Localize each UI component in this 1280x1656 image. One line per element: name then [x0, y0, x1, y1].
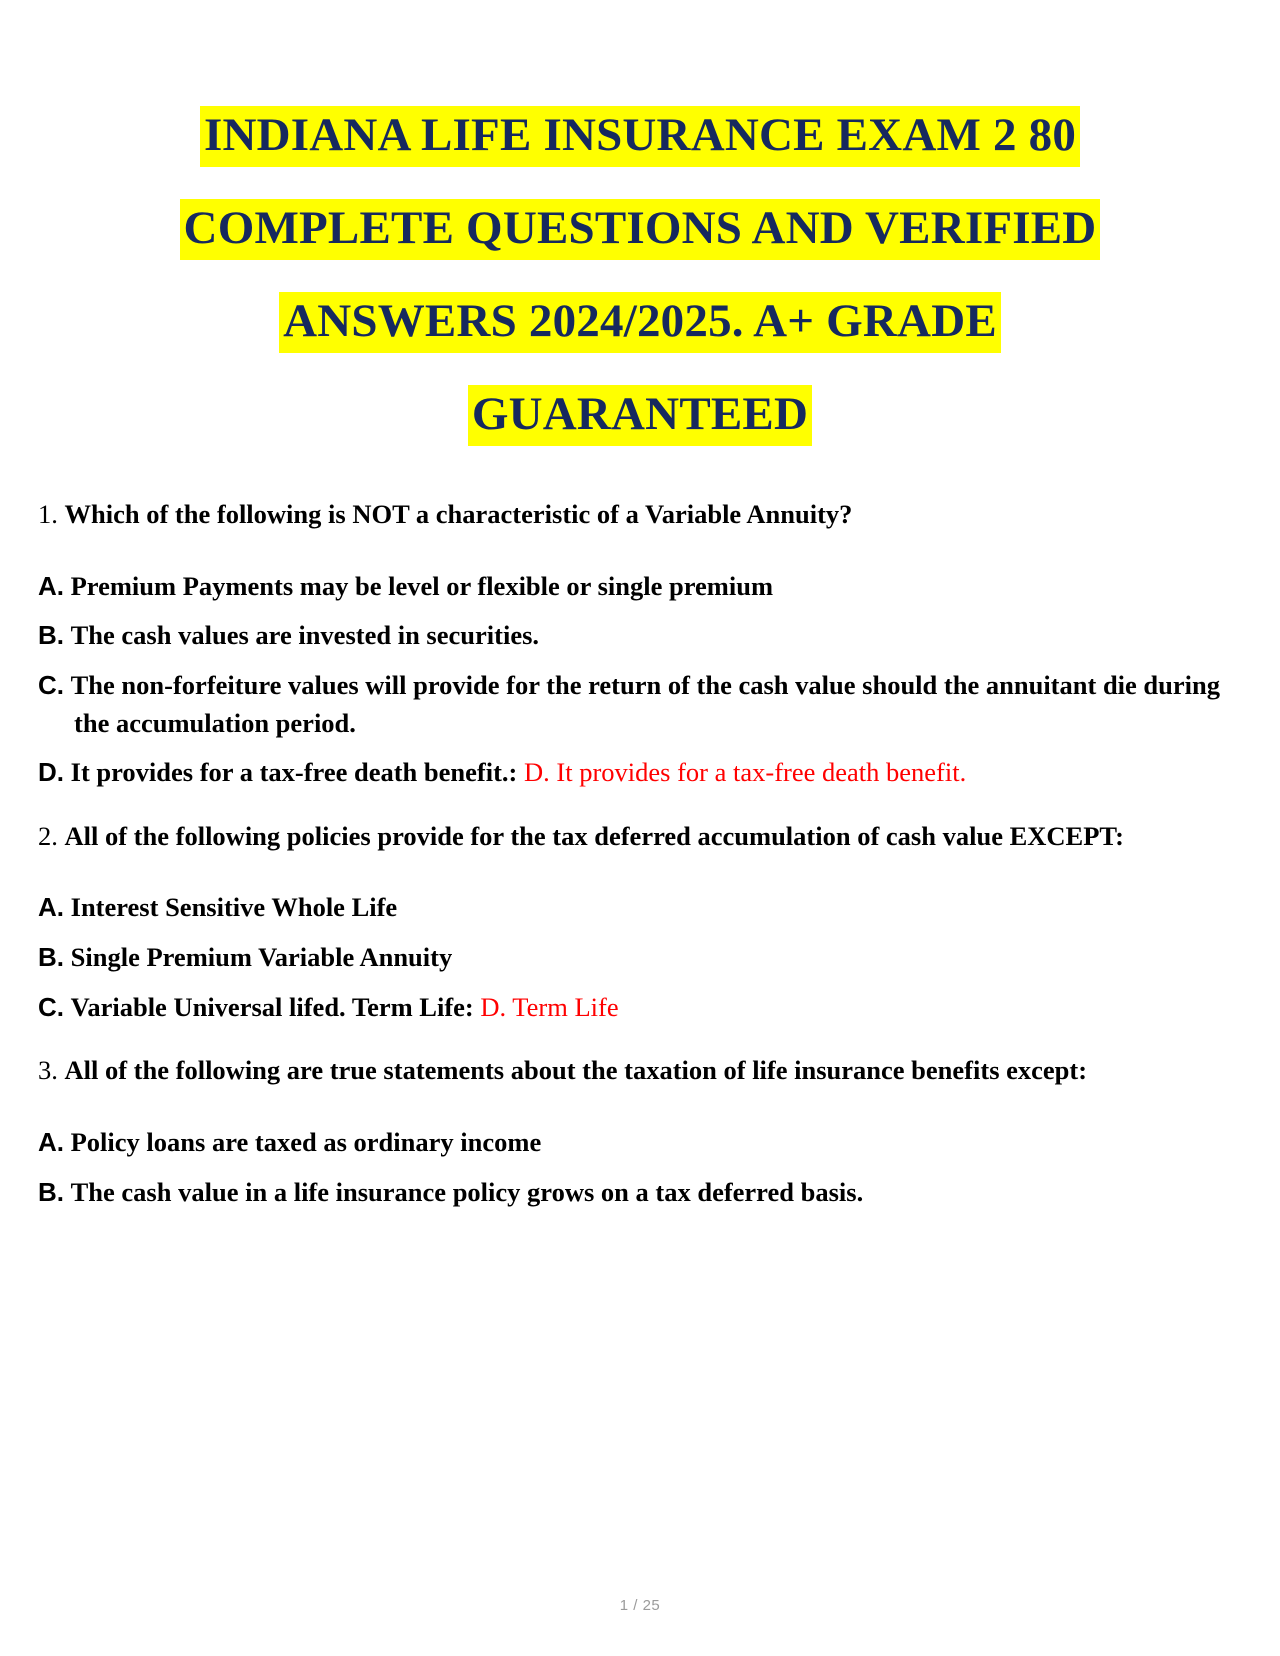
option-letter: B. — [38, 942, 64, 972]
option-group: A. Premium Payments may be level or flex… — [38, 568, 1246, 792]
question-text: All of the following policies provide fo… — [65, 821, 1124, 851]
title-line-1: INDIANA LIFE INSURANCE EXAM 2 80 — [32, 112, 1248, 205]
option-row: C. The non-forfeiture values will provid… — [38, 667, 1246, 742]
option-letter: C. — [38, 992, 64, 1022]
option-letter: A. — [38, 892, 64, 922]
option-row: C. Variable Universal lifed. Term Life: … — [38, 989, 1246, 1027]
option-group: A. Interest Sensitive Whole Life B. Sing… — [38, 889, 1246, 1026]
question-stem: 2. All of the following policies provide… — [38, 818, 1246, 856]
title-line-2: COMPLETE QUESTIONS AND VERIFIED — [32, 205, 1248, 298]
option-row: A. Policy loans are taxed as ordinary in… — [38, 1124, 1246, 1162]
option-row: D. It provides for a tax-free death bene… — [38, 754, 1246, 792]
option-text: The cash value in a life insurance polic… — [71, 1177, 864, 1207]
option-row: B. Single Premium Variable Annuity — [38, 939, 1246, 977]
page-title: INDIANA LIFE INSURANCE EXAM 2 80 COMPLET… — [32, 0, 1248, 438]
option-row: A. Premium Payments may be level or flex… — [38, 568, 1246, 606]
answer-text: D. It provides for a tax-free death bene… — [517, 757, 966, 787]
option-letter: A. — [38, 1127, 64, 1157]
option-letter: B. — [38, 1177, 64, 1207]
title-line-2-text: COMPLETE QUESTIONS AND VERIFIED — [180, 199, 1101, 260]
title-line-4-text: GUARANTEED — [468, 385, 812, 446]
option-row: B. The cash value in a life insurance po… — [38, 1174, 1246, 1212]
option-text: The non-forfeiture values will provide f… — [71, 670, 1220, 738]
document-page: INDIANA LIFE INSURANCE EXAM 2 80 COMPLET… — [0, 0, 1280, 1656]
page-footer: 1 / 25 — [0, 1597, 1280, 1614]
option-text: The cash values are invested in securiti… — [71, 620, 539, 650]
option-letter: D. — [38, 757, 64, 787]
answer-text: D. Term Life — [474, 992, 619, 1022]
option-text: It provides for a tax-free death benefit… — [71, 757, 518, 787]
option-text: Interest Sensitive Whole Life — [71, 892, 398, 922]
page-indicator: 1 / 25 — [620, 1597, 661, 1614]
question-number: 2. — [38, 821, 58, 851]
question-text: All of the following are true statements… — [65, 1055, 1088, 1085]
question-number: 3. — [38, 1055, 58, 1085]
option-text: Single Premium Variable Annuity — [71, 942, 453, 972]
option-row: B. The cash values are invested in secur… — [38, 617, 1246, 655]
question-text: Which of the following is NOT a characte… — [65, 499, 853, 529]
option-text: Variable Universal lifed. Term Life: — [71, 992, 474, 1022]
option-row: A. Interest Sensitive Whole Life — [38, 889, 1246, 927]
option-group: A. Policy loans are taxed as ordinary in… — [38, 1124, 1246, 1211]
question-stem: 3. All of the following are true stateme… — [38, 1052, 1246, 1090]
question-stem: 1. Which of the following is NOT a chara… — [38, 496, 1246, 534]
title-line-3-text: ANSWERS 2024/2025. A+ GRADE — [279, 292, 1001, 353]
questions-body: 1. Which of the following is NOT a chara… — [32, 496, 1248, 1211]
title-line-4: GUARANTEED — [32, 391, 1248, 438]
option-letter: C. — [38, 670, 64, 700]
option-letter: B. — [38, 620, 64, 650]
title-line-3: ANSWERS 2024/2025. A+ GRADE — [32, 298, 1248, 391]
question-number: 1. — [38, 499, 58, 529]
title-line-1-text: INDIANA LIFE INSURANCE EXAM 2 80 — [200, 106, 1080, 167]
option-text: Policy loans are taxed as ordinary incom… — [71, 1127, 542, 1157]
option-letter: A. — [38, 571, 64, 601]
option-text: Premium Payments may be level or flexibl… — [71, 571, 773, 601]
